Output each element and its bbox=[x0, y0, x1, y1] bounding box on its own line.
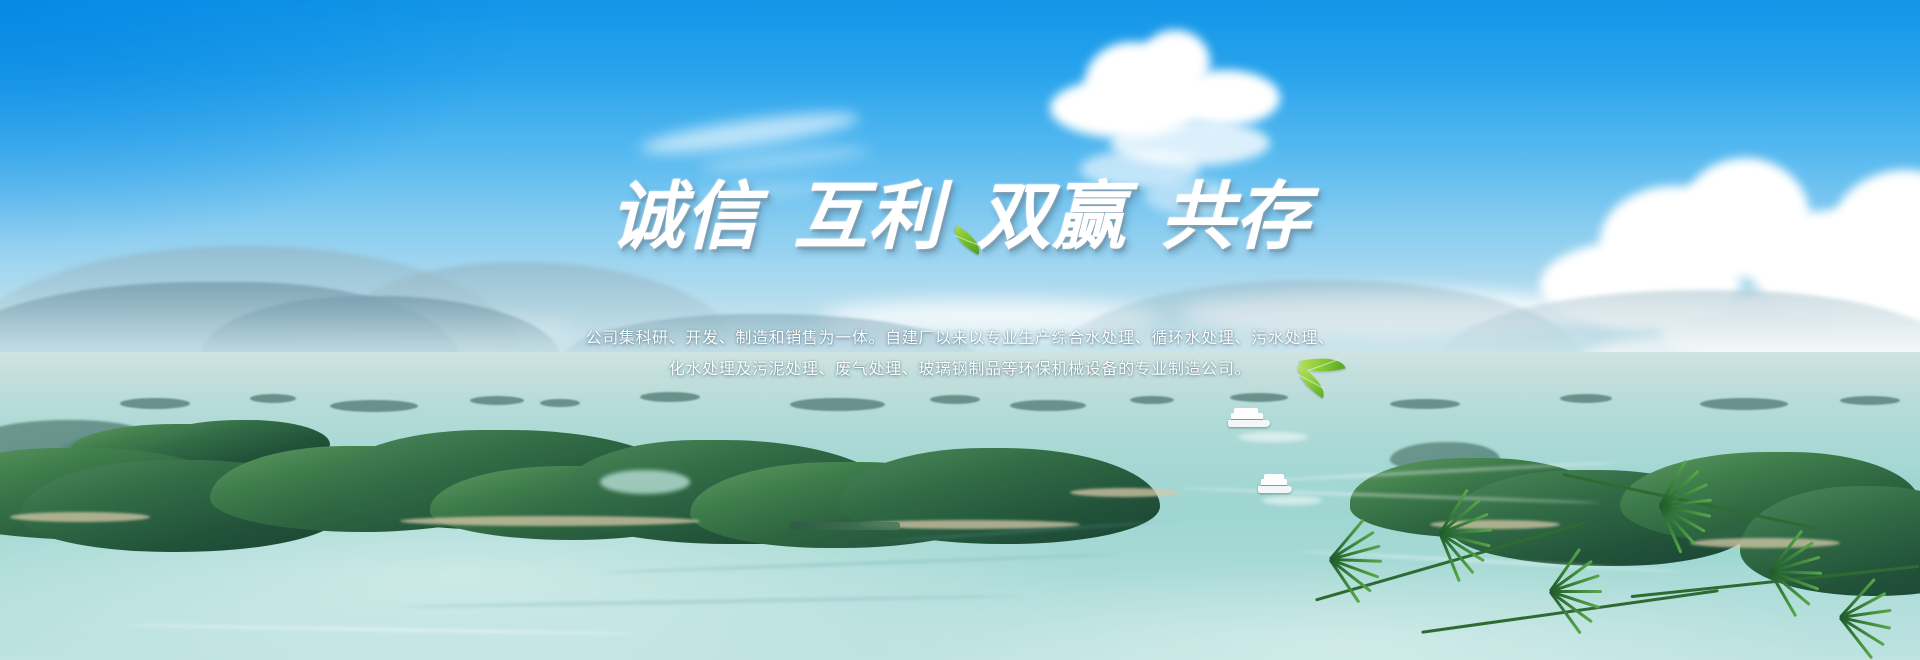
subtitle-line-2: 化水处理及污泥处理、废气处理、玻璃钢制品等环保机械设备的专业制造公司。 bbox=[0, 353, 1920, 384]
subtitle-line-1: 公司集科研、开发、制造和销售为一体。自建厂以来以专业生产综合水处理、循环水处理、… bbox=[0, 322, 1920, 353]
headline-word-3: 双赢 bbox=[977, 178, 1126, 258]
headline-word-1: 诚信 bbox=[610, 178, 759, 258]
text-overlay: 诚信互利双赢共存 公司集科研、开发、制造和销售为一体。自建厂以来以专业生产综合水… bbox=[0, 0, 1920, 660]
headline-word-2: 互利 bbox=[794, 178, 943, 258]
hero-banner: 诚信互利双赢共存 公司集科研、开发、制造和销售为一体。自建厂以来以专业生产综合水… bbox=[0, 0, 1920, 660]
page-title: 诚信互利双赢共存 bbox=[0, 178, 1920, 258]
leaf-vein bbox=[1305, 359, 1338, 372]
subtitle-text: 公司集科研、开发、制造和销售为一体。自建厂以来以专业生产综合水处理、循环水处理、… bbox=[0, 322, 1920, 384]
headline-word-4: 共存 bbox=[1160, 178, 1309, 258]
